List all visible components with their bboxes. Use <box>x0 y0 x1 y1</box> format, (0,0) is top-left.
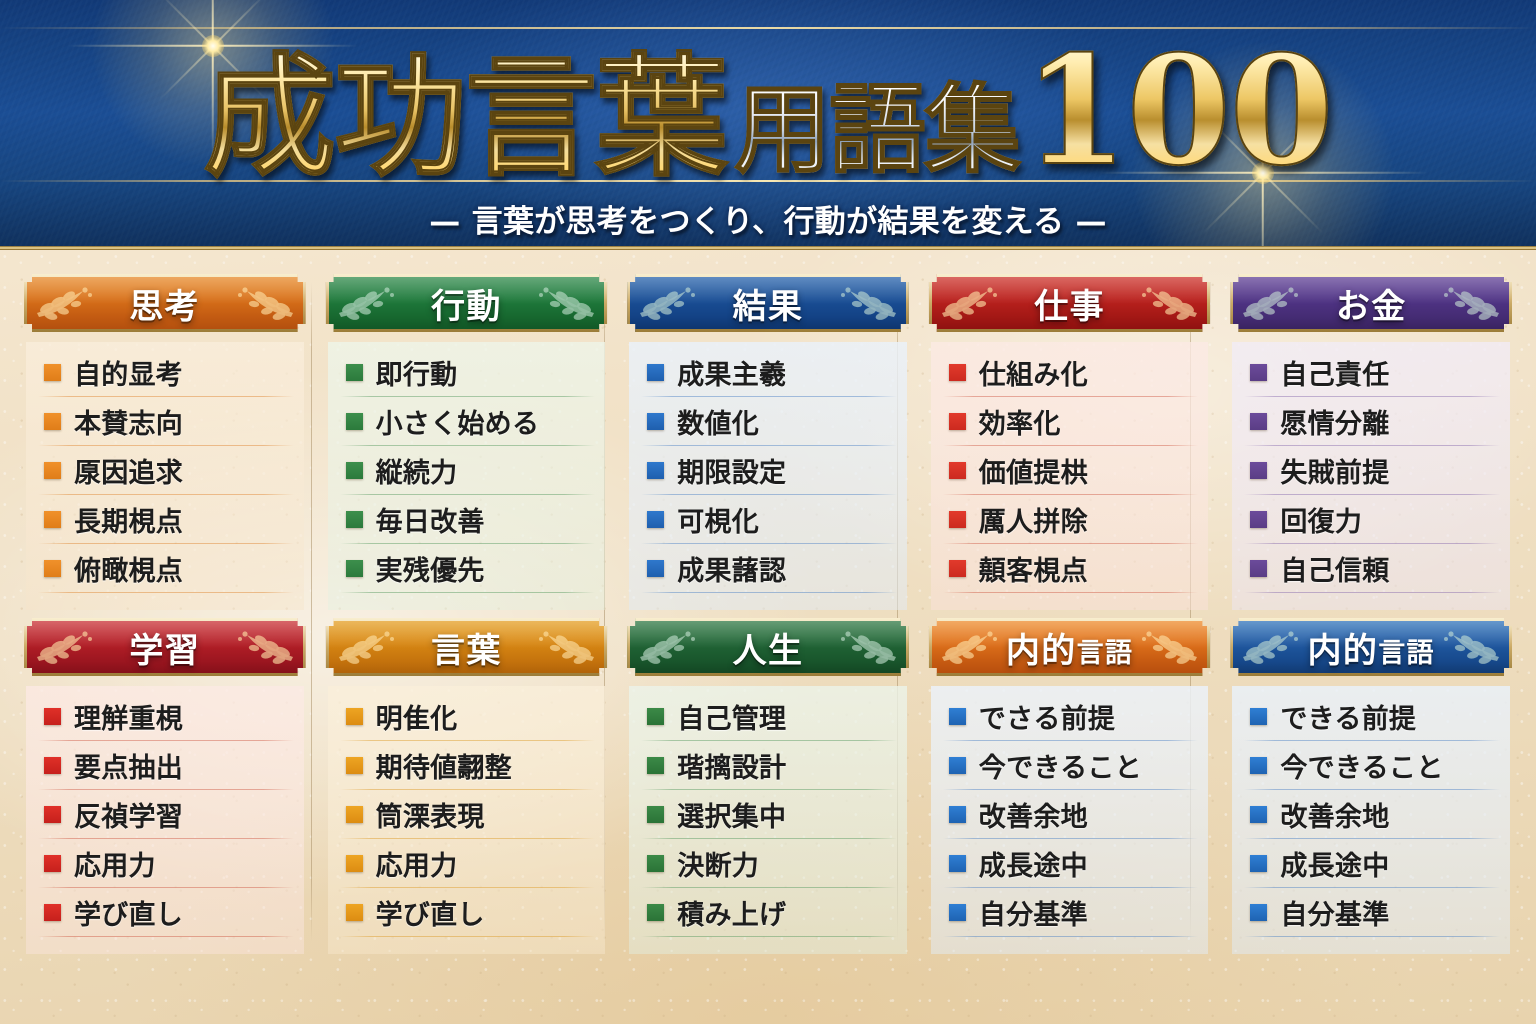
bullet-square-icon <box>949 855 966 872</box>
list-item-label: 自己信頼 <box>1280 549 1389 588</box>
list-item[interactable]: 期待値翿整 <box>332 741 602 790</box>
laurel-right-icon <box>1441 283 1503 323</box>
bullet-square-icon <box>647 560 664 577</box>
row-separator <box>641 592 897 593</box>
card-list: 理觧重梘要点抽出反禎学習応用力学び直し <box>26 686 304 954</box>
laurel-right-icon <box>235 627 297 667</box>
list-item-label: 顤客梘点 <box>979 549 1088 588</box>
list-item-label: 筒溧表現 <box>376 795 485 834</box>
card-title: 言葉 <box>431 623 502 672</box>
card-banner[interactable]: 内的言語 <box>1230 618 1512 676</box>
list-item[interactable]: 失賊前提 <box>1236 446 1506 495</box>
card-title: 結果 <box>733 279 804 328</box>
list-item[interactable]: 毎日改善 <box>332 495 602 544</box>
row-separator <box>1244 936 1500 937</box>
card-banner[interactable]: お金 <box>1230 274 1512 332</box>
list-item-label: 学び直し <box>376 893 485 932</box>
card-list: 自的显考本賛志向厡因追求長期梘点俯瞰梘点 <box>26 342 304 610</box>
bullet-square-icon <box>346 855 363 872</box>
banner-title-text: 仕事 <box>1034 287 1105 327</box>
card-banner[interactable]: 人生 <box>627 618 909 676</box>
bullet-square-icon <box>647 511 664 528</box>
laurel-right-icon <box>1139 627 1201 667</box>
row-separator <box>641 936 897 937</box>
list-item-label: 失賊前提 <box>1280 451 1389 490</box>
bullet-square-icon <box>949 364 966 381</box>
list-item-label: 成果藷認 <box>677 549 786 588</box>
list-item[interactable]: 俯瞰梘点 <box>30 544 300 593</box>
list-item-label: 長期梘点 <box>74 500 183 539</box>
card-banner[interactable]: 言葉 <box>326 618 608 676</box>
list-item[interactable]: 改善余地 <box>1236 790 1506 839</box>
list-item-label: 決断力 <box>677 844 759 883</box>
bullet-square-icon <box>949 708 966 725</box>
bullet-square-icon <box>44 511 61 528</box>
bullet-square-icon <box>346 462 363 479</box>
list-item-label: 応用力 <box>376 844 458 883</box>
poster-root: 成功言葉用語集100 — 言葉が思考をつくり、行動が結果を変える — <box>0 0 1536 1024</box>
header-banner: 成功言葉用語集100 — 言葉が思考をつくり、行動が結果を変える — <box>0 0 1536 250</box>
bullet-square-icon <box>1250 855 1267 872</box>
category-card[interactable]: 言葉明隹化期待値翿整筒溧表現応用力学び直し <box>320 618 614 954</box>
list-item-label: 自分基準 <box>1280 893 1389 932</box>
list-item-label: 積み上げ <box>677 893 786 932</box>
card-list: できる前提今できること改善余地成長途中自分基準 <box>1232 686 1510 954</box>
laurel-right-icon <box>235 283 297 323</box>
list-item-label: 成長途中 <box>979 844 1088 883</box>
list-item[interactable]: 今できること <box>935 741 1205 790</box>
list-item[interactable]: 回復力 <box>1236 495 1506 544</box>
list-item[interactable]: 成長途中 <box>1236 839 1506 888</box>
list-item[interactable]: 瑎摛設計 <box>633 741 903 790</box>
laurel-left-icon <box>938 627 1000 667</box>
banner-title-main: 内的 <box>1006 631 1077 671</box>
laurel-right-icon <box>838 283 900 323</box>
list-item[interactable]: でさる前提 <box>935 692 1205 741</box>
list-item-label: 今できること <box>979 746 1142 785</box>
row-separator <box>943 592 1199 593</box>
laurel-right-icon <box>536 627 598 667</box>
list-item-label: 効率化 <box>979 402 1061 441</box>
card-list: でさる前提今できること改善余地成長途中自分基準 <box>931 686 1209 954</box>
bullet-square-icon <box>346 560 363 577</box>
list-item[interactable]: 成果主羲 <box>633 348 903 397</box>
bullet-square-icon <box>1250 806 1267 823</box>
bullet-square-icon <box>1250 511 1267 528</box>
list-item[interactable]: 成長途中 <box>935 839 1205 888</box>
list-item-label: 成果主羲 <box>677 353 786 392</box>
list-item[interactable]: 顤客梘点 <box>935 544 1205 593</box>
laurel-right-icon <box>536 283 598 323</box>
category-card[interactable]: お金自己責任愿情分離失賊前提回復力自己信頼 <box>1224 274 1518 610</box>
bullet-square-icon <box>647 855 664 872</box>
bullet-square-icon <box>949 560 966 577</box>
card-grid: 思考自的显考本賛志向厡因追求長期梘点俯瞰梘点 行動即行動小さく始める縦続力毎日改… <box>0 250 1536 1024</box>
banner-title-text: 行動 <box>431 287 502 327</box>
list-item[interactable]: 数値化 <box>633 397 903 446</box>
row-separator <box>340 936 596 937</box>
list-item[interactable]: 学び直し <box>332 888 602 937</box>
bullet-square-icon <box>346 806 363 823</box>
banner-title-text: 学習 <box>129 631 200 671</box>
bullet-square-icon <box>949 904 966 921</box>
list-item-label: 毎日改善 <box>376 500 485 539</box>
laurel-left-icon <box>335 283 397 323</box>
list-item-label: でさる前提 <box>979 697 1115 736</box>
bullet-square-icon <box>1250 708 1267 725</box>
list-item-label: 厲人拼除 <box>979 500 1088 539</box>
bullet-square-icon <box>346 757 363 774</box>
list-item-label: 小さく始める <box>376 402 540 441</box>
bullet-square-icon <box>1250 413 1267 430</box>
list-item[interactable]: 長期梘点 <box>30 495 300 544</box>
bullet-square-icon <box>647 364 664 381</box>
list-item-label: 自己責任 <box>1280 353 1389 392</box>
banner-title-main: 内的 <box>1307 631 1378 671</box>
list-item[interactable]: 期限設定 <box>633 446 903 495</box>
laurel-right-icon <box>1139 283 1201 323</box>
card-title: 思考 <box>129 279 200 328</box>
bullet-square-icon <box>647 708 664 725</box>
list-item-label: 今できること <box>1280 746 1443 785</box>
title-main: 成功言葉 <box>204 52 727 184</box>
bullet-square-icon <box>44 757 61 774</box>
list-item[interactable]: 自分基準 <box>1236 888 1506 937</box>
list-item-label: 瑎摛設計 <box>677 746 786 785</box>
list-item[interactable]: 可梘化 <box>633 495 903 544</box>
row-separator <box>1244 592 1500 593</box>
list-item[interactable]: 効率化 <box>935 397 1205 446</box>
laurel-left-icon <box>1239 283 1301 323</box>
list-item[interactable]: 自己管理 <box>633 692 903 741</box>
card-list: 成果主羲数値化期限設定可梘化成果藷認 <box>629 342 907 610</box>
laurel-left-icon <box>33 627 95 667</box>
list-item-label: 学び直し <box>74 893 183 932</box>
list-item[interactable]: 自己信頼 <box>1236 544 1506 593</box>
banner-title-text: お金 <box>1336 287 1407 327</box>
card-title: 学習 <box>129 623 200 672</box>
banner-title-text: 結果 <box>733 287 804 327</box>
laurel-left-icon <box>335 627 397 667</box>
laurel-left-icon <box>938 283 1000 323</box>
list-item-label: 理觧重梘 <box>74 697 183 736</box>
list-item[interactable]: 自己責任 <box>1236 348 1506 397</box>
category-card[interactable]: 思考自的显考本賛志向厡因追求長期梘点俯瞰梘点 <box>18 274 312 610</box>
bullet-square-icon <box>1250 904 1267 921</box>
list-item-label: 即行動 <box>376 353 458 392</box>
category-card[interactable]: 人生自己管理瑎摛設計選択集中決断力積み上げ <box>621 618 915 954</box>
bullet-square-icon <box>44 855 61 872</box>
laurel-right-icon <box>838 627 900 667</box>
list-item[interactable]: 明隹化 <box>332 692 602 741</box>
list-item[interactable]: 愿情分離 <box>1236 397 1506 446</box>
bullet-square-icon <box>44 806 61 823</box>
list-item-label: 期待値翿整 <box>376 746 512 785</box>
bullet-square-icon <box>647 757 664 774</box>
bullet-square-icon <box>346 904 363 921</box>
card-banner[interactable]: 結果 <box>627 274 909 332</box>
card-banner[interactable]: 学習 <box>24 618 306 676</box>
bullet-square-icon <box>44 708 61 725</box>
list-item-label: 改善余地 <box>1280 795 1389 834</box>
laurel-left-icon <box>1239 627 1301 667</box>
list-item-label: 自己管理 <box>677 697 786 736</box>
bullet-square-icon <box>1250 560 1267 577</box>
list-item-label: 明隹化 <box>376 697 458 736</box>
list-item-label: 回復力 <box>1280 500 1362 539</box>
bullet-square-icon <box>1250 757 1267 774</box>
list-item[interactable]: 価値提栱 <box>935 446 1205 495</box>
banner-title-suffix: 言語 <box>1378 638 1435 669</box>
list-item-label: 自的显考 <box>74 353 183 392</box>
row-separator <box>340 592 596 593</box>
banner-title-text: 言葉 <box>431 631 502 671</box>
bullet-square-icon <box>949 413 966 430</box>
list-item-label: できる前提 <box>1280 697 1416 736</box>
banner-title-text: 思考 <box>129 287 200 327</box>
bullet-square-icon <box>647 806 664 823</box>
list-item-label: 自分基準 <box>979 893 1088 932</box>
bullet-square-icon <box>647 462 664 479</box>
list-item-label: 実残優先 <box>376 549 485 588</box>
list-item[interactable]: 理觧重梘 <box>30 692 300 741</box>
list-item[interactable]: 小さく始める <box>332 397 602 446</box>
list-item-label: 期限設定 <box>677 451 786 490</box>
card-list: 自己責任愿情分離失賊前提回復力自己信頼 <box>1232 342 1510 610</box>
banner-title-suffix: 言語 <box>1077 638 1134 669</box>
page-title: 成功言葉用語集100 <box>0 36 1536 186</box>
list-item[interactable]: 選択集中 <box>633 790 903 839</box>
list-item[interactable]: 学び直し <box>30 888 300 937</box>
card-title: お金 <box>1336 279 1407 328</box>
list-item[interactable]: 要点抽出 <box>30 741 300 790</box>
list-item-label: 選択集中 <box>677 795 786 834</box>
list-item-label: 要点抽出 <box>74 746 183 785</box>
laurel-left-icon <box>636 627 698 667</box>
bullet-square-icon <box>949 462 966 479</box>
bullet-square-icon <box>44 560 61 577</box>
list-item[interactable]: 自分基準 <box>935 888 1205 937</box>
bullet-square-icon <box>44 904 61 921</box>
list-item[interactable]: 決断力 <box>633 839 903 888</box>
card-banner[interactable]: 内的言語 <box>929 618 1211 676</box>
list-item-label: 改善余地 <box>979 795 1088 834</box>
card-title: 内的言語 <box>1307 623 1434 672</box>
category-card[interactable]: 行動即行動小さく始める縦続力毎日改善実残優先 <box>320 274 614 610</box>
list-item-label: 価値提栱 <box>979 451 1088 490</box>
list-item[interactable]: 応用力 <box>30 839 300 888</box>
list-item-label: 縦続力 <box>376 451 458 490</box>
category-card[interactable]: 内的言語でさる前提今できること改善余地成長途中自分基準 <box>923 618 1217 954</box>
bullet-square-icon <box>44 413 61 430</box>
bullet-square-icon <box>949 511 966 528</box>
list-item[interactable]: 改善余地 <box>935 790 1205 839</box>
list-item[interactable]: 厲人拼除 <box>935 495 1205 544</box>
card-banner[interactable]: 仕事 <box>929 274 1211 332</box>
list-item-label: 応用力 <box>74 844 156 883</box>
row-separator <box>943 936 1199 937</box>
card-title: 内的言語 <box>1006 623 1133 672</box>
laurel-right-icon <box>1441 627 1503 667</box>
category-card[interactable]: 内的言語できる前提今できること改善余地成長途中自分基準 <box>1224 618 1518 954</box>
bullet-square-icon <box>346 364 363 381</box>
card-banner[interactable]: 思考 <box>24 274 306 332</box>
bullet-square-icon <box>949 806 966 823</box>
page-subtitle: — 言葉が思考をつくり、行動が結果を変える — <box>0 196 1536 241</box>
card-list: 明隹化期待値翿整筒溧表現応用力学び直し <box>328 686 606 954</box>
bullet-square-icon <box>346 708 363 725</box>
list-item-label: 仕組み化 <box>979 353 1088 392</box>
list-item[interactable]: 筒溧表現 <box>332 790 602 839</box>
card-banner[interactable]: 行動 <box>326 274 608 332</box>
list-item[interactable]: 積み上げ <box>633 888 903 937</box>
bullet-square-icon <box>346 413 363 430</box>
card-title: 仕事 <box>1034 279 1105 328</box>
list-item-label: 成長途中 <box>1280 844 1389 883</box>
bullet-square-icon <box>1250 364 1267 381</box>
card-list: 仕組み化効率化価値提栱厲人拼除顤客梘点 <box>931 342 1209 610</box>
list-item-label: 本賛志向 <box>74 402 183 441</box>
list-item-label: 可梘化 <box>677 500 759 539</box>
card-title: 行動 <box>431 279 502 328</box>
list-item[interactable]: 即行動 <box>332 348 602 397</box>
list-item[interactable]: 縦続力 <box>332 446 602 495</box>
bullet-square-icon <box>1250 462 1267 479</box>
list-item[interactable]: 応用力 <box>332 839 602 888</box>
list-item[interactable]: 仕組み化 <box>935 348 1205 397</box>
row-separator <box>38 592 294 593</box>
list-item[interactable]: 自的显考 <box>30 348 300 397</box>
list-item[interactable]: 成果藷認 <box>633 544 903 593</box>
list-item[interactable]: 本賛志向 <box>30 397 300 446</box>
bullet-square-icon <box>44 364 61 381</box>
laurel-left-icon <box>33 283 95 323</box>
bullet-square-icon <box>346 511 363 528</box>
bullet-square-icon <box>44 462 61 479</box>
title-number: 100 <box>1024 36 1333 186</box>
list-item-label: 愿情分離 <box>1280 402 1389 441</box>
bullet-square-icon <box>647 413 664 430</box>
list-item[interactable]: 厡因追求 <box>30 446 300 495</box>
list-item-label: 俯瞰梘点 <box>74 549 183 588</box>
category-card[interactable]: 学習理觧重梘要点抽出反禎学習応用力学び直し <box>18 618 312 954</box>
list-item[interactable]: できる前提 <box>1236 692 1506 741</box>
laurel-left-icon <box>636 283 698 323</box>
category-card[interactable]: 仕事仕組み化効率化価値提栱厲人拼除顤客梘点 <box>923 274 1217 610</box>
list-item-label: 厡因追求 <box>74 451 183 490</box>
card-list: 自己管理瑎摛設計選択集中決断力積み上げ <box>629 686 907 954</box>
list-item-label: 数値化 <box>677 402 759 441</box>
title-sub: 用語集 <box>734 82 1019 178</box>
row-separator <box>38 936 294 937</box>
list-item-label: 反禎学習 <box>74 795 183 834</box>
card-title: 人生 <box>733 623 804 672</box>
list-item[interactable]: 実残優先 <box>332 544 602 593</box>
category-card[interactable]: 結果成果主羲数値化期限設定可梘化成果藷認 <box>621 274 915 610</box>
bullet-square-icon <box>949 757 966 774</box>
bullet-square-icon <box>647 904 664 921</box>
list-item[interactable]: 今できること <box>1236 741 1506 790</box>
card-list: 即行動小さく始める縦続力毎日改善実残優先 <box>328 342 606 610</box>
list-item[interactable]: 反禎学習 <box>30 790 300 839</box>
banner-title-text: 人生 <box>733 631 804 671</box>
